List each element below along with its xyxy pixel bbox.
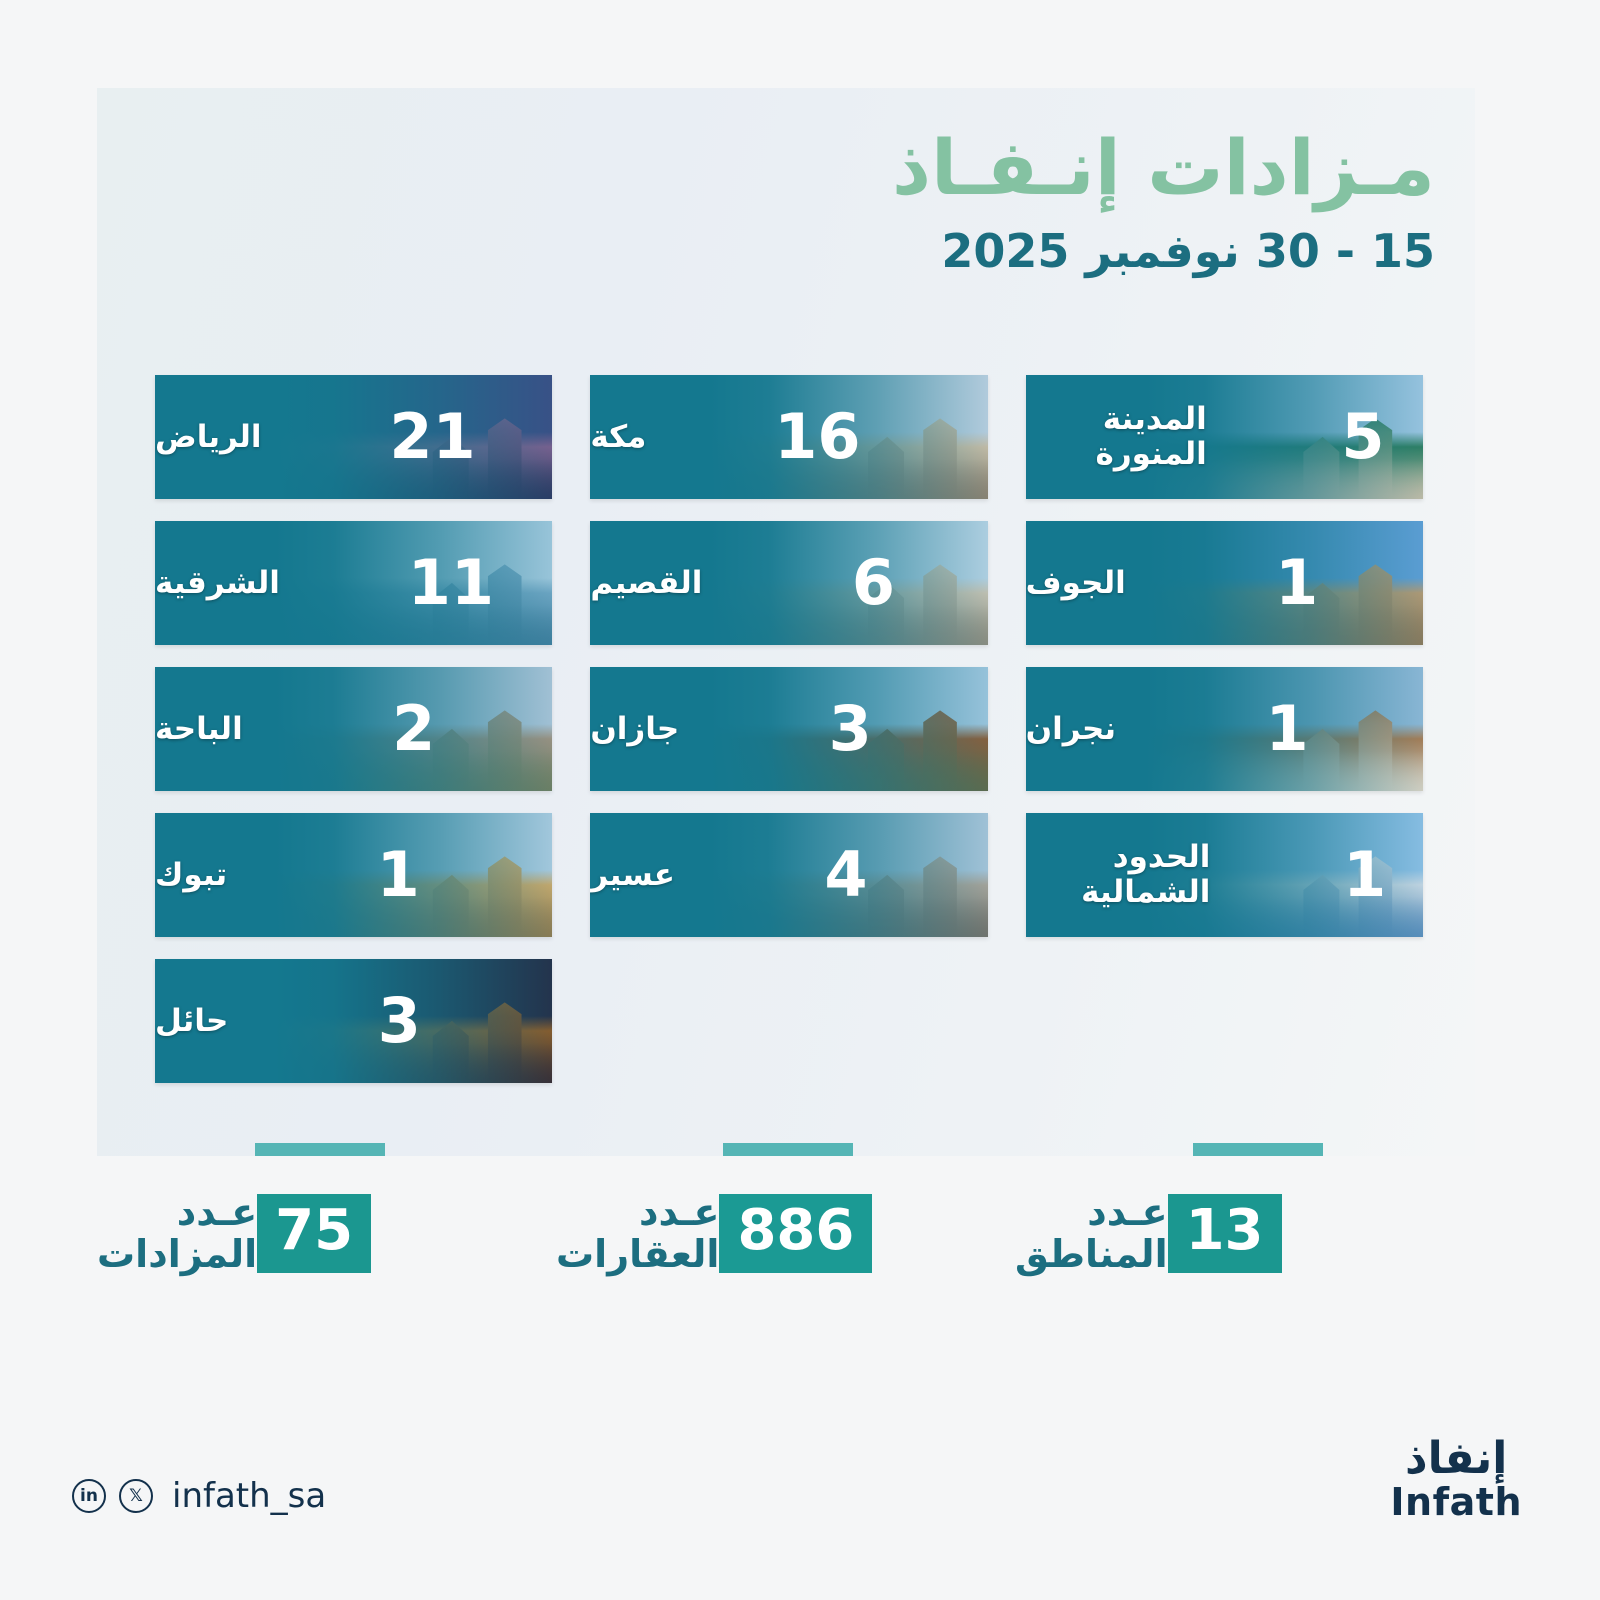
region-card[interactable]: عسير4 xyxy=(590,813,987,937)
region-auction-count: 21 xyxy=(358,406,508,468)
region-auction-count: 1 xyxy=(1212,698,1362,760)
region-card[interactable]: القصيم6 xyxy=(590,521,987,645)
header: مـزادات إنـفـاذ 15 - 30 نوفمبر 2025 xyxy=(535,128,1435,276)
column-middle: مكة16القصيم6جازان3عسير4 xyxy=(590,375,987,1083)
stat-value-box: 886 xyxy=(719,1194,872,1273)
stat-label: عـدد العقارات xyxy=(556,1192,719,1276)
region-name: مكة xyxy=(590,420,646,455)
region-name: الحدود الشمالية xyxy=(1026,840,1211,909)
region-name: المدينة المنورة xyxy=(1026,402,1207,471)
social-handles[interactable]: in 𝕏 infath_sa xyxy=(72,1476,326,1516)
region-card[interactable]: مكة16 xyxy=(590,375,987,499)
region-name: تبوك xyxy=(155,858,227,893)
accent-bar-regions xyxy=(255,1143,385,1156)
stat-label: عـدد المزادات xyxy=(97,1192,257,1276)
region-auction-count: 11 xyxy=(376,552,526,614)
region-card[interactable]: جازان3 xyxy=(590,667,987,791)
column-left: المدينة المنورة5الجوف1نجران1الحدود الشما… xyxy=(1026,375,1423,1083)
page-title: مـزادات إنـفـاذ xyxy=(535,128,1435,208)
column-right: الرياض21الشرقية11الباحة2تبوك1حائل3 xyxy=(155,375,552,1083)
region-card[interactable]: المدينة المنورة5 xyxy=(1026,375,1423,499)
region-auction-count: 1 xyxy=(1306,844,1423,906)
region-name: القصيم xyxy=(590,566,702,601)
region-auction-count: 6 xyxy=(798,552,948,614)
accent-bar-auctions xyxy=(1193,1143,1323,1156)
region-card[interactable]: الحدود الشمالية1 xyxy=(1026,813,1423,937)
stat-properties: عـدد العقارات886 xyxy=(556,1192,1015,1276)
social-handle-label: infath_sa xyxy=(172,1476,326,1516)
stat-label: عـدد المناطق xyxy=(1015,1192,1168,1276)
region-card[interactable]: الشرقية11 xyxy=(155,521,552,645)
region-card[interactable]: الباحة2 xyxy=(155,667,552,791)
region-card[interactable]: الرياض21 xyxy=(155,375,552,499)
stat-auctions: عـدد المزادات75 xyxy=(97,1192,556,1276)
stat-regions: عـدد المناطق13 xyxy=(1015,1192,1474,1276)
region-card[interactable]: حائل3 xyxy=(155,959,552,1083)
content-panel: مـزادات إنـفـاذ 15 - 30 نوفمبر 2025 الري… xyxy=(97,88,1475,1156)
region-name: جازان xyxy=(590,712,679,747)
stat-value-box: 13 xyxy=(1168,1194,1282,1273)
region-auction-count: 3 xyxy=(324,990,474,1052)
region-card[interactable]: نجران1 xyxy=(1026,667,1423,791)
region-name: حائل xyxy=(155,1004,228,1039)
regions-grid: الرياض21الشرقية11الباحة2تبوك1حائل3مكة16ا… xyxy=(155,375,1423,1083)
date-range: 15 - 30 نوفمبر 2025 xyxy=(535,226,1435,277)
stat-value-box: 75 xyxy=(257,1194,371,1273)
region-name: الرياض xyxy=(155,420,262,455)
region-auction-count: 2 xyxy=(339,698,489,760)
region-name: الجوف xyxy=(1026,566,1126,601)
accent-bar-properties xyxy=(723,1143,853,1156)
region-auction-count: 5 xyxy=(1303,406,1423,468)
linkedin-icon[interactable]: in xyxy=(72,1479,106,1513)
summary-stats: عـدد المزادات75عـدد العقارات886عـدد المن… xyxy=(97,1192,1475,1276)
brand-logo: إنفاذ Infath xyxy=(1390,1436,1522,1524)
logo-arabic: إنفاذ xyxy=(1390,1436,1522,1482)
region-card[interactable]: الجوف1 xyxy=(1026,521,1423,645)
region-auction-count: 1 xyxy=(323,844,473,906)
logo-english: Infath xyxy=(1390,1482,1522,1524)
region-card[interactable]: تبوك1 xyxy=(155,813,552,937)
region-auction-count: 3 xyxy=(775,698,925,760)
region-name: الباحة xyxy=(155,712,243,747)
region-auction-count: 16 xyxy=(742,406,892,468)
x-icon[interactable]: 𝕏 xyxy=(119,1479,153,1513)
region-name: نجران xyxy=(1026,712,1116,747)
region-name: الشرقية xyxy=(155,566,280,601)
region-auction-count: 1 xyxy=(1222,552,1372,614)
region-auction-count: 4 xyxy=(771,844,921,906)
region-name: عسير xyxy=(590,858,675,893)
